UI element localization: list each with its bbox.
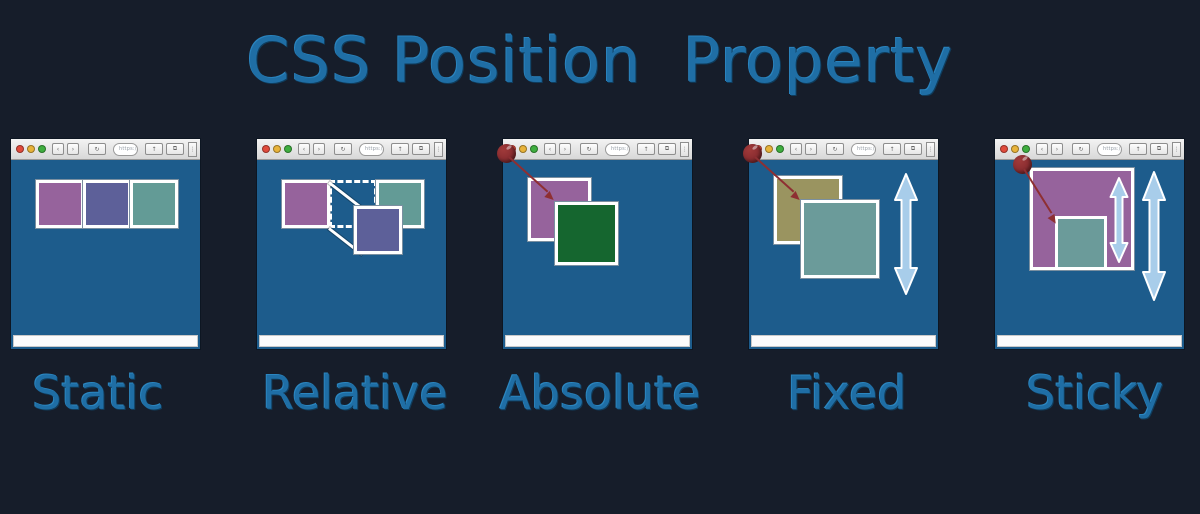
url-text: https://www.example.com/position bbox=[1103, 146, 1122, 152]
browser-window-static: ‹ › ↻ https://www.example.com/position ↑… bbox=[10, 138, 201, 350]
caption-row: Static Relative Absolute Fixed Sticky bbox=[0, 368, 1200, 428]
menu-icon[interactable]: ⋮ bbox=[188, 142, 197, 157]
browser-titlebar: ‹ › ↻ https://www.example.com/position ↑… bbox=[749, 139, 938, 160]
url-text: https://www.example.com/position bbox=[365, 146, 384, 152]
tabs-icon[interactable]: ⧉ bbox=[166, 143, 184, 155]
viewport-fixed bbox=[749, 160, 938, 333]
reader-view-icon[interactable]: ↻ bbox=[826, 143, 844, 155]
box-relative-offset bbox=[354, 206, 402, 254]
window-controls[interactable] bbox=[14, 145, 49, 153]
reader-view-icon[interactable]: ↻ bbox=[580, 143, 598, 155]
toolbar-right: ↑ ⧉ bbox=[391, 143, 430, 155]
panel-static: ‹ › ↻ https://www.example.com/position ↑… bbox=[10, 138, 201, 350]
scroll-arrow-outer bbox=[892, 172, 920, 296]
maximize-icon[interactable] bbox=[530, 145, 538, 153]
menu-icon[interactable]: ⋮ bbox=[926, 142, 935, 157]
double-arrow-icon bbox=[892, 172, 920, 296]
url-text: https://www.example.com/position bbox=[857, 146, 876, 152]
box-relative-1 bbox=[282, 180, 330, 228]
url-text: https://www.example.com/position bbox=[611, 146, 630, 152]
forward-icon[interactable]: › bbox=[313, 143, 325, 155]
url-bar[interactable]: https://www.example.com/position bbox=[359, 143, 384, 156]
share-icon[interactable]: ↑ bbox=[883, 143, 901, 155]
forward-icon[interactable]: › bbox=[1051, 143, 1063, 155]
browser-statusbar bbox=[259, 335, 444, 347]
browser-statusbar bbox=[505, 335, 690, 347]
panel-relative: ‹ › ↻ https://www.example.com/position ↑… bbox=[256, 138, 447, 350]
toolbar-right: ↑ ⧉ bbox=[883, 143, 922, 155]
box-static-3 bbox=[130, 180, 178, 228]
page-title: CSS Position Property bbox=[0, 30, 1200, 92]
caption-fixed: Fixed bbox=[727, 368, 967, 419]
panel-absolute: ‹ › ↻ https://www.example.com/position ↑… bbox=[502, 138, 693, 350]
caption-static: Static bbox=[0, 368, 218, 419]
back-icon[interactable]: ‹ bbox=[790, 143, 802, 155]
box-static-1 bbox=[36, 180, 84, 228]
url-bar[interactable]: https://www.example.com/position bbox=[605, 143, 630, 156]
box-sticky-child bbox=[1055, 216, 1107, 270]
browser-window-absolute: ‹ › ↻ https://www.example.com/position ↑… bbox=[502, 138, 693, 350]
url-bar[interactable]: https://www.example.com/position bbox=[851, 143, 876, 156]
viewport-relative bbox=[257, 160, 446, 333]
share-icon[interactable]: ↑ bbox=[637, 143, 655, 155]
panel-fixed: ‹ › ↻ https://www.example.com/position ↑… bbox=[748, 138, 939, 350]
window-controls[interactable] bbox=[998, 145, 1033, 153]
forward-icon[interactable]: › bbox=[805, 143, 817, 155]
minimize-icon[interactable] bbox=[765, 145, 773, 153]
back-icon[interactable]: ‹ bbox=[298, 143, 310, 155]
toolbar-right: ↑ ⧉ bbox=[145, 143, 184, 155]
toolbar-right: ↑ ⧉ bbox=[1129, 143, 1168, 155]
minimize-icon[interactable] bbox=[27, 145, 35, 153]
browser-window-fixed: ‹ › ↻ https://www.example.com/position ↑… bbox=[748, 138, 939, 350]
share-icon[interactable]: ↑ bbox=[1129, 143, 1147, 155]
minimize-icon[interactable] bbox=[1011, 145, 1019, 153]
static-flow-row bbox=[36, 180, 177, 228]
browser-statusbar bbox=[997, 335, 1182, 347]
url-text: https://www.example.com/position bbox=[119, 146, 138, 152]
menu-icon[interactable]: ⋮ bbox=[1172, 142, 1181, 157]
double-arrow-icon bbox=[1108, 176, 1130, 264]
caption-absolute: Absolute bbox=[480, 368, 720, 419]
menu-icon[interactable]: ⋮ bbox=[434, 142, 443, 157]
panel-sticky: ‹ › ↻ https://www.example.com/position ↑… bbox=[994, 138, 1185, 350]
share-icon[interactable]: ↑ bbox=[391, 143, 409, 155]
url-bar[interactable]: https://www.example.com/position bbox=[1097, 143, 1122, 156]
tabs-icon[interactable]: ⧉ bbox=[1150, 143, 1168, 155]
browser-titlebar: ‹ › ↻ https://www.example.com/position ↑… bbox=[503, 139, 692, 160]
box-fixed-front bbox=[801, 200, 879, 278]
viewport-static bbox=[11, 160, 200, 333]
tabs-icon[interactable]: ⧉ bbox=[904, 143, 922, 155]
browser-titlebar: ‹ › ↻ https://www.example.com/position ↑… bbox=[11, 139, 200, 160]
minimize-icon[interactable] bbox=[273, 145, 281, 153]
panel-row: ‹ › ↻ https://www.example.com/position ↑… bbox=[0, 138, 1200, 353]
share-icon[interactable]: ↑ bbox=[145, 143, 163, 155]
maximize-icon[interactable] bbox=[38, 145, 46, 153]
back-icon[interactable]: ‹ bbox=[52, 143, 64, 155]
viewport-absolute bbox=[503, 160, 692, 333]
scroll-arrow-inner bbox=[1108, 176, 1130, 264]
viewport-sticky bbox=[995, 160, 1184, 333]
maximize-icon[interactable] bbox=[1022, 145, 1030, 153]
browser-titlebar: ‹ › ↻ https://www.example.com/position ↑… bbox=[257, 139, 446, 160]
double-arrow-icon bbox=[1140, 170, 1168, 302]
url-bar[interactable]: https://www.example.com/position bbox=[113, 143, 138, 156]
forward-icon[interactable]: › bbox=[559, 143, 571, 155]
tabs-icon[interactable]: ⧉ bbox=[412, 143, 430, 155]
box-absolute-child bbox=[555, 202, 618, 265]
close-icon[interactable] bbox=[16, 145, 24, 153]
reader-view-icon[interactable]: ↻ bbox=[88, 143, 106, 155]
browser-statusbar bbox=[751, 335, 936, 347]
minimize-icon[interactable] bbox=[519, 145, 527, 153]
window-controls[interactable] bbox=[260, 145, 295, 153]
maximize-icon[interactable] bbox=[284, 145, 292, 153]
reader-view-icon[interactable]: ↻ bbox=[1072, 143, 1090, 155]
browser-window-relative: ‹ › ↻ https://www.example.com/position ↑… bbox=[256, 138, 447, 350]
back-icon[interactable]: ‹ bbox=[544, 143, 556, 155]
caption-relative: Relative bbox=[235, 368, 475, 419]
scroll-arrow-outer bbox=[1140, 170, 1168, 302]
menu-icon[interactable]: ⋮ bbox=[680, 142, 689, 157]
tabs-icon[interactable]: ⧉ bbox=[658, 143, 676, 155]
close-icon[interactable] bbox=[262, 145, 270, 153]
close-icon[interactable] bbox=[1000, 145, 1008, 153]
toolbar-right: ↑ ⧉ bbox=[637, 143, 676, 155]
browser-statusbar bbox=[13, 335, 198, 347]
maximize-icon[interactable] bbox=[776, 145, 784, 153]
caption-sticky: Sticky bbox=[975, 368, 1200, 419]
origin-pin-icon bbox=[1013, 155, 1032, 174]
reader-view-icon[interactable]: ↻ bbox=[334, 143, 352, 155]
back-icon[interactable]: ‹ bbox=[1036, 143, 1048, 155]
browser-window-sticky: ‹ › ↻ https://www.example.com/position ↑… bbox=[994, 138, 1185, 350]
box-static-2 bbox=[83, 180, 131, 228]
forward-icon[interactable]: › bbox=[67, 143, 79, 155]
